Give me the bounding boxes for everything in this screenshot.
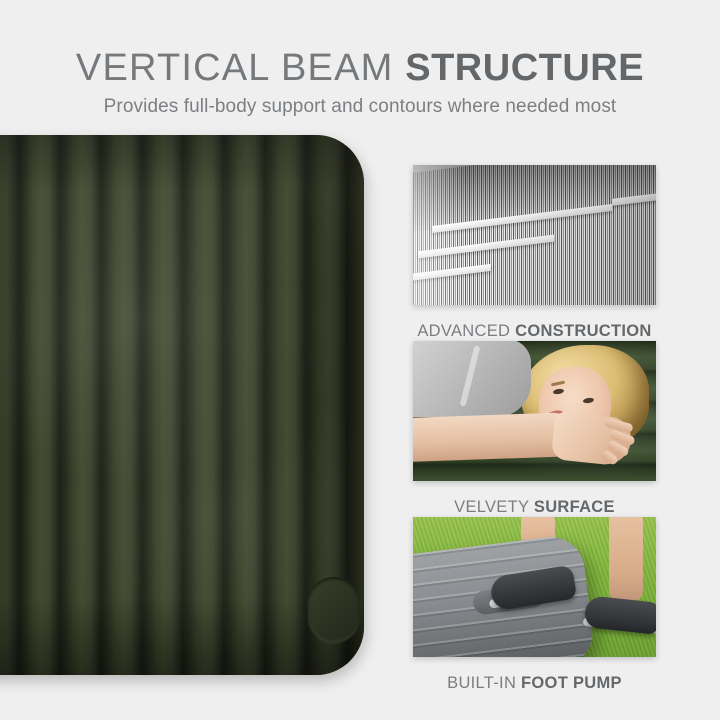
caption-bold: FOOT PUMP xyxy=(521,674,622,692)
feature-image-surface xyxy=(413,341,656,481)
feature-image-construction xyxy=(413,165,656,305)
page-subtitle: Provides full-body support and contours … xyxy=(0,95,720,119)
feature-card-foot-pump: BUILT-IN FOOT PUMP xyxy=(413,517,656,693)
foot-pump-valve-icon xyxy=(308,577,360,643)
product-hero-image xyxy=(0,135,364,675)
caption-light: ADVANCED xyxy=(417,322,515,340)
construction-overlay xyxy=(413,165,656,305)
caption-bold: CONSTRUCTION xyxy=(515,322,652,340)
caption-light: BUILT-IN xyxy=(447,674,521,692)
caption-bold: SURFACE xyxy=(534,498,615,516)
feature-caption-surface: VELVETY SURFACE xyxy=(413,497,656,517)
page-title-light: VERTICAL BEAM xyxy=(76,47,405,89)
caption-light: VELVETY xyxy=(454,498,534,516)
feature-card-surface: VELVETY SURFACE xyxy=(413,341,656,517)
feature-caption-construction: ADVANCED CONSTRUCTION xyxy=(413,321,656,341)
feature-image-foot-pump xyxy=(413,517,656,657)
feature-caption-foot-pump: BUILT-IN FOOT PUMP xyxy=(413,673,656,693)
header: VERTICAL BEAM STRUCTURE Provides full-bo… xyxy=(0,0,720,132)
person-leg xyxy=(609,517,643,601)
page-title-bold: STRUCTURE xyxy=(405,47,644,89)
page-title: VERTICAL BEAM STRUCTURE xyxy=(0,47,720,89)
feature-card-construction: ADVANCED CONSTRUCTION xyxy=(413,165,656,341)
